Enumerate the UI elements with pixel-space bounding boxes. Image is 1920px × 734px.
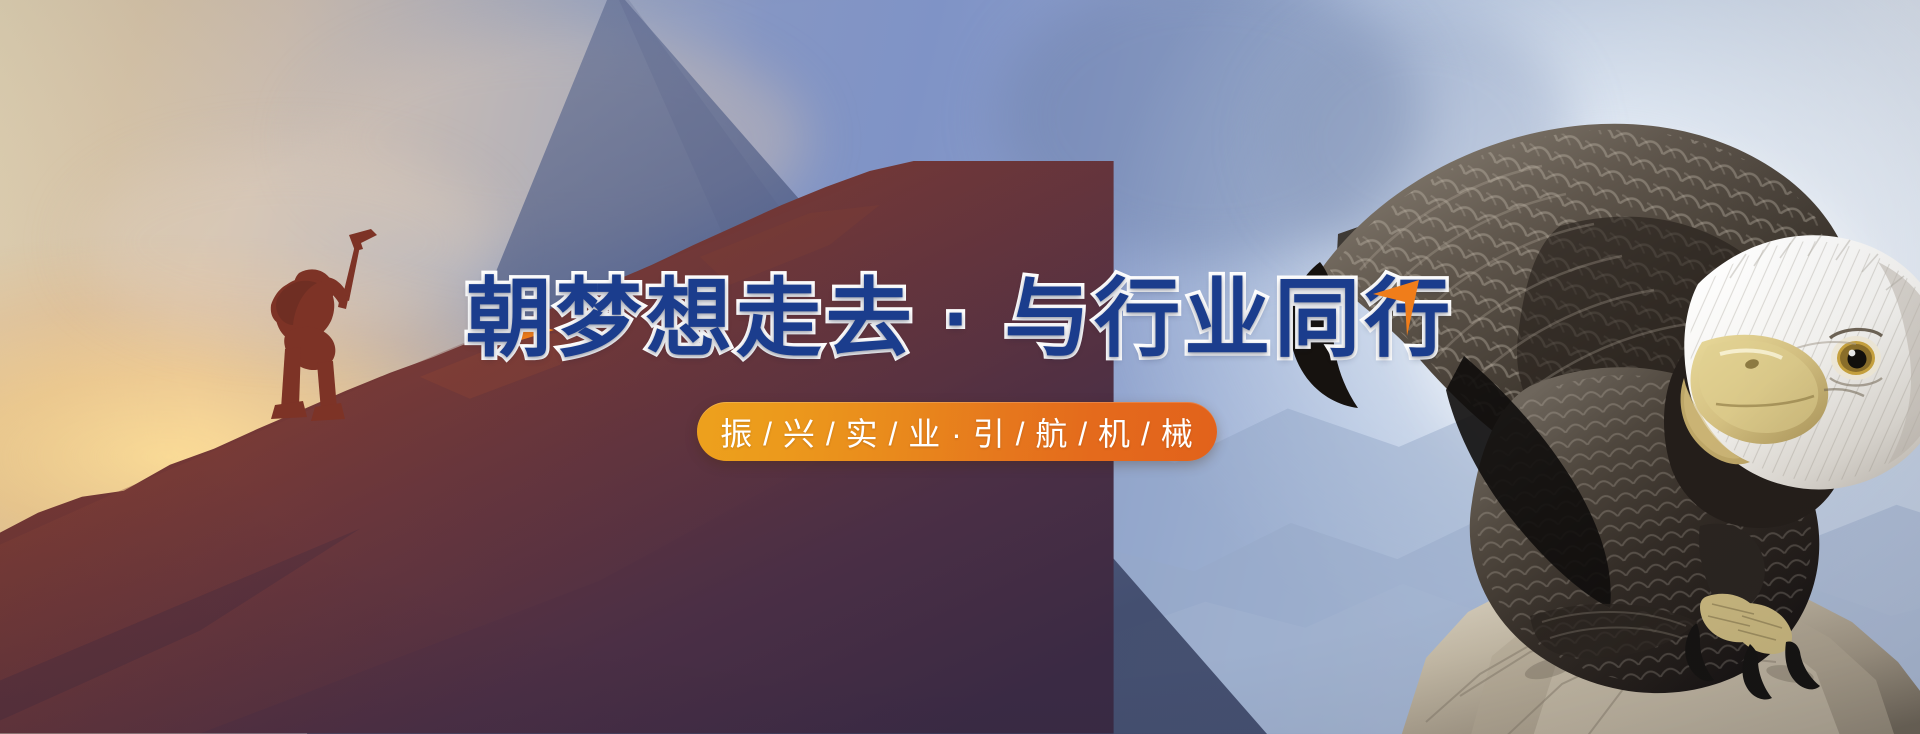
hero-banner: 朝梦想走去 · 与行业同行 振 / 兴 / 实 / 业 · 引 / 航 / 机 …: [0, 0, 1920, 734]
bald-eagle: [1230, 56, 1920, 734]
eagle-head: [1681, 234, 1920, 489]
foreground-mountain-slope: [0, 161, 1114, 734]
climber-silhouette: [237, 213, 417, 433]
